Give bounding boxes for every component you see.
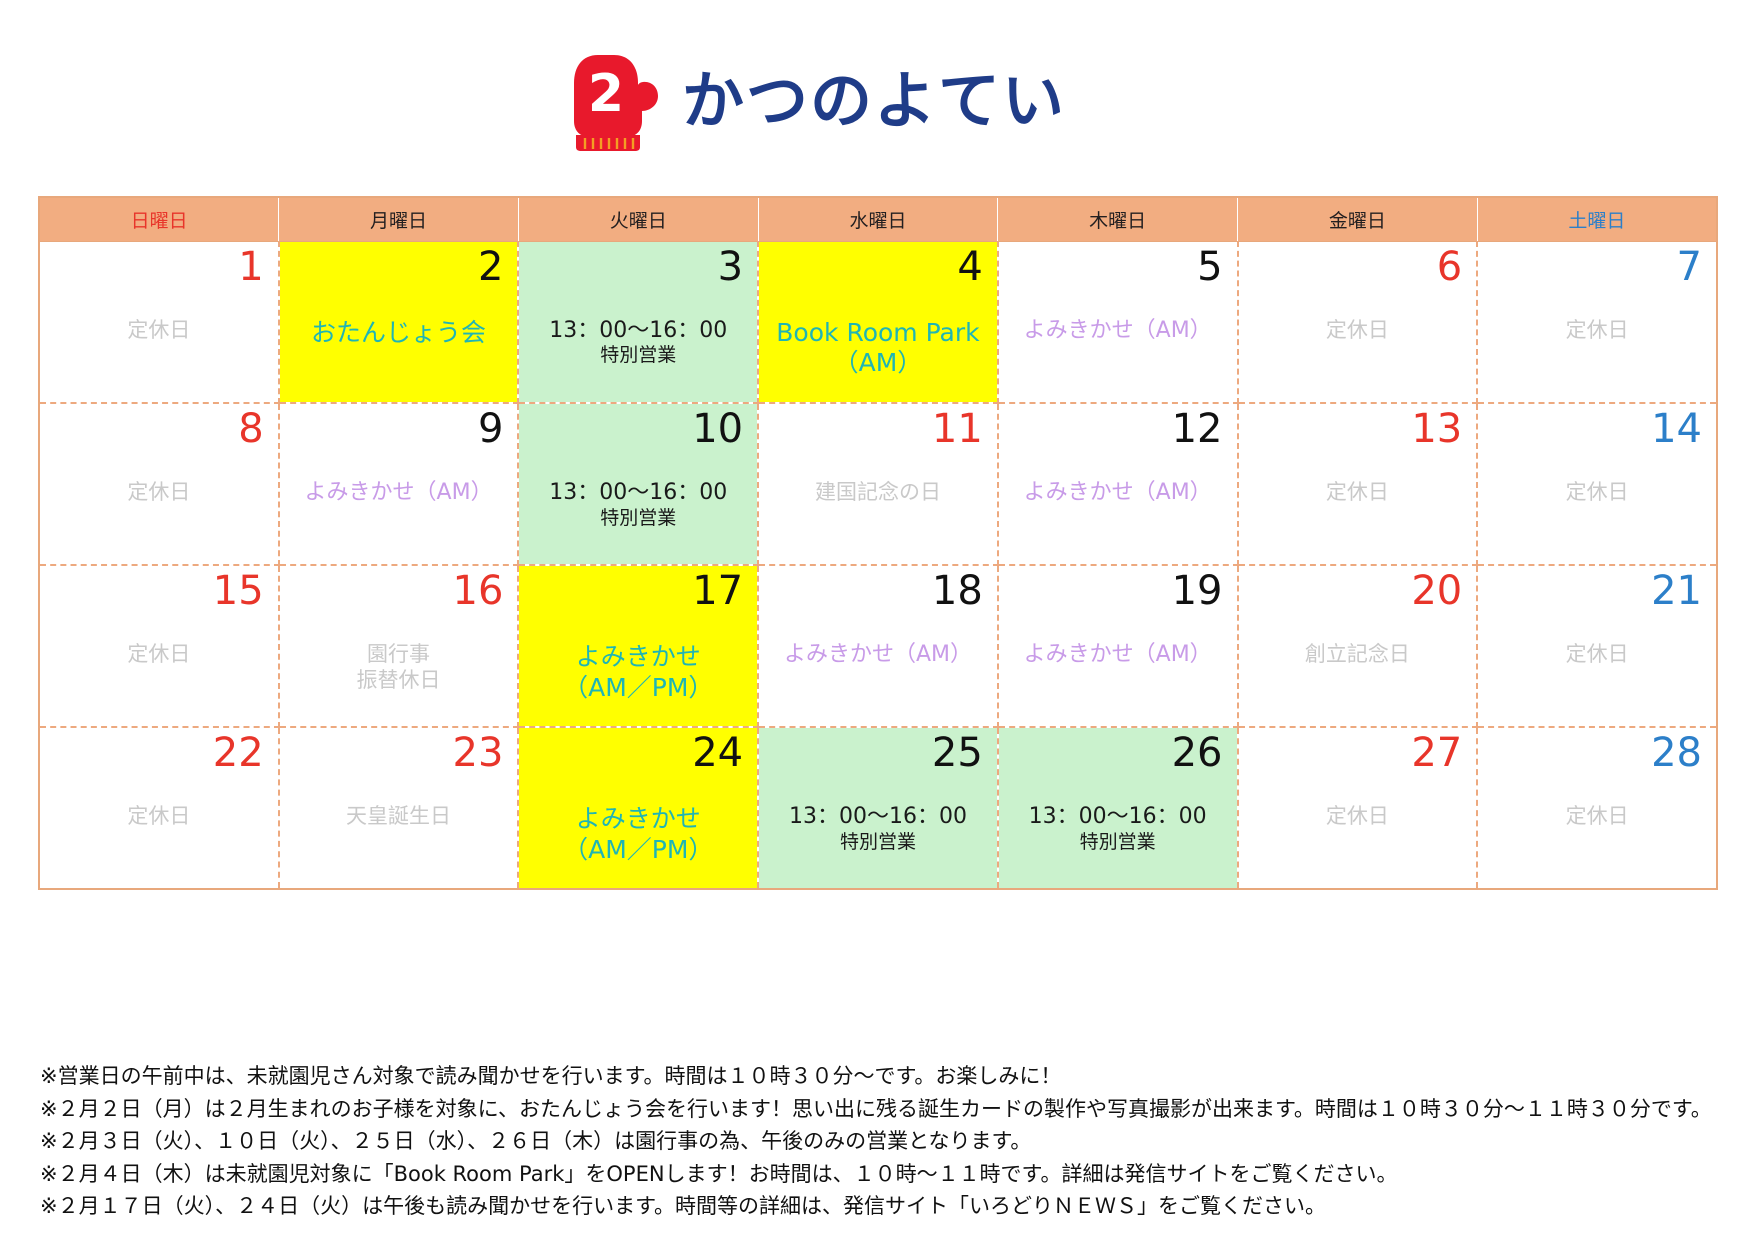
day-event-line1: 定休日 xyxy=(1484,804,1710,830)
day-number: 22 xyxy=(54,732,264,774)
calendar-day-cell[interactable]: 7定休日 xyxy=(1477,241,1717,403)
day-event-line1: よみきかせ（AM） xyxy=(1005,480,1231,507)
calendar-day-cell[interactable]: 16園行事振替休日 xyxy=(279,565,519,727)
calendar-day-cell[interactable]: 13定休日 xyxy=(1238,403,1478,565)
day-number: 15 xyxy=(54,570,264,612)
footnote-line: ※２月２日（月）は２月生まれのお子様を対象に、おたんじょう会を行います！思い出に… xyxy=(40,1093,1730,1126)
day-event-text: 定休日 xyxy=(46,480,272,506)
calendar-day-cell[interactable]: 19よみきかせ（AM） xyxy=(998,565,1238,727)
calendar-day-cell[interactable]: 15定休日 xyxy=(39,565,279,727)
calendar-day-cell[interactable]: 6定休日 xyxy=(1238,241,1478,403)
day-number: 9 xyxy=(294,408,504,450)
red-mitten-icon: 2 xyxy=(568,49,664,153)
day-event-text: 定休日 xyxy=(1484,642,1710,668)
day-event-line2: （AM） xyxy=(765,348,991,379)
day-number: 17 xyxy=(533,570,743,612)
day-number: 13 xyxy=(1253,408,1463,450)
day-event-line1: 創立記念日 xyxy=(1245,642,1471,668)
day-event-text: 定休日 xyxy=(46,642,272,668)
day-event-text: 定休日 xyxy=(1245,804,1471,830)
calendar-day-cell[interactable]: 313：00～16：00特別営業 xyxy=(518,241,758,403)
day-event-text: よみきかせ（AM／PM） xyxy=(525,642,751,703)
calendar-body: 1定休日2おたんじょう会313：00～16：00特別営業4Book Room P… xyxy=(39,241,1717,889)
calendar-day-cell[interactable]: 23天皇誕生日 xyxy=(279,727,519,889)
day-number: 27 xyxy=(1253,732,1463,774)
month-number: 2 xyxy=(588,64,624,124)
day-event-text: 定休日 xyxy=(1245,480,1471,506)
day-number: 8 xyxy=(54,408,264,450)
day-event-line1: よみきかせ xyxy=(525,804,751,835)
calendar-container: 日曜日 月曜日 火曜日 水曜日 木曜日 金曜日 土曜日 1定休日2おたんじょう会… xyxy=(38,196,1718,890)
day-event-line2: 特別営業 xyxy=(525,344,751,367)
day-number: 16 xyxy=(294,570,504,612)
day-number: 3 xyxy=(533,246,743,288)
day-event-text: 定休日 xyxy=(1484,318,1710,344)
day-number: 7 xyxy=(1492,246,1702,288)
day-event-text: 園行事振替休日 xyxy=(286,642,512,693)
day-event-line1: よみきかせ（AM） xyxy=(286,480,512,507)
day-event-text: 定休日 xyxy=(46,318,272,344)
day-event-text: よみきかせ（AM） xyxy=(1005,318,1231,345)
day-event-line1: Book Room Park xyxy=(765,318,991,349)
calendar-day-cell[interactable]: 2613：00～16：00特別営業 xyxy=(998,727,1238,889)
calendar-week-row: 1定休日2おたんじょう会313：00～16：00特別営業4Book Room P… xyxy=(39,241,1717,403)
calendar-day-cell[interactable]: 1013：00～16：00特別営業 xyxy=(518,403,758,565)
day-number: 19 xyxy=(1013,570,1223,612)
day-number: 4 xyxy=(773,246,983,288)
day-event-text: 建国記念の日 xyxy=(765,480,991,506)
calendar-day-cell[interactable]: 4Book Room Park（AM） xyxy=(758,241,998,403)
day-number: 2 xyxy=(294,246,504,288)
day-number: 18 xyxy=(773,570,983,612)
weekday-header-row: 日曜日 月曜日 火曜日 水曜日 木曜日 金曜日 土曜日 xyxy=(39,197,1717,241)
calendar-day-cell[interactable]: 9よみきかせ（AM） xyxy=(279,403,519,565)
day-event-line2: 特別営業 xyxy=(765,831,991,854)
day-event-text: おたんじょう会 xyxy=(286,318,512,349)
day-number: 24 xyxy=(533,732,743,774)
calendar-page: 2 かつのよてい 日曜日 月曜日 火曜日 水曜日 木曜日 金曜日 土曜日 1定休… xyxy=(0,0,1754,1240)
day-event-text: 定休日 xyxy=(1484,480,1710,506)
weekday-header-thursday: 木曜日 xyxy=(998,197,1238,241)
weekday-header-friday: 金曜日 xyxy=(1238,197,1478,241)
footnotes: ※営業日の午前中は、未就園児さん対象で読み聞かせを行います。時間は１０時３０分～… xyxy=(40,1060,1730,1223)
day-event-line1: よみきかせ（AM） xyxy=(1005,642,1231,669)
calendar-day-cell[interactable]: 17よみきかせ（AM／PM） xyxy=(518,565,758,727)
day-event-line1: 定休日 xyxy=(46,480,272,506)
calendar-day-cell[interactable]: 20創立記念日 xyxy=(1238,565,1478,727)
footnote-line: ※営業日の午前中は、未就園児さん対象で読み聞かせを行います。時間は１０時３０分～… xyxy=(40,1060,1730,1093)
day-number: 1 xyxy=(54,246,264,288)
calendar-day-cell[interactable]: 2おたんじょう会 xyxy=(279,241,519,403)
day-event-text: 天皇誕生日 xyxy=(286,804,512,830)
page-title: かつのよてい xyxy=(682,70,1066,132)
day-event-line1: よみきかせ（AM） xyxy=(1005,318,1231,345)
day-event-line1: 定休日 xyxy=(46,804,272,830)
day-event-text: 13：00～16：00特別営業 xyxy=(765,804,991,854)
day-event-line1: 天皇誕生日 xyxy=(286,804,512,830)
day-event-line1: 定休日 xyxy=(1245,480,1471,506)
day-number: 14 xyxy=(1492,408,1702,450)
day-number: 25 xyxy=(773,732,983,774)
day-event-text: 定休日 xyxy=(1245,318,1471,344)
weekday-header-wednesday: 水曜日 xyxy=(758,197,998,241)
calendar-day-cell[interactable]: 11建国記念の日 xyxy=(758,403,998,565)
day-event-line1: よみきかせ xyxy=(525,642,751,673)
day-number: 11 xyxy=(773,408,983,450)
footnote-line: ※２月４日（木）は未就園児対象に「Book Room Park」をOPENします… xyxy=(40,1158,1730,1191)
day-event-text: よみきかせ（AM） xyxy=(765,642,991,669)
day-event-line1: 定休日 xyxy=(1484,480,1710,506)
weekday-header-tuesday: 火曜日 xyxy=(518,197,758,241)
day-event-line1: 建国記念の日 xyxy=(765,480,991,506)
day-event-line1: 園行事 xyxy=(286,642,512,668)
weekday-header-monday: 月曜日 xyxy=(279,197,519,241)
day-number: 20 xyxy=(1253,570,1463,612)
day-event-text: よみきかせ（AM／PM） xyxy=(525,804,751,865)
day-event-line1: 定休日 xyxy=(46,318,272,344)
calendar-day-cell[interactable]: 21定休日 xyxy=(1477,565,1717,727)
day-event-line1: 13：00～16：00 xyxy=(525,480,751,507)
day-event-line1: 定休日 xyxy=(1245,318,1471,344)
day-event-line1: 定休日 xyxy=(1484,318,1710,344)
day-event-line1: 13：00～16：00 xyxy=(1005,804,1231,831)
day-event-line2: （AM／PM） xyxy=(525,673,751,704)
calendar-table: 日曜日 月曜日 火曜日 水曜日 木曜日 金曜日 土曜日 1定休日2おたんじょう会… xyxy=(38,196,1718,890)
weekday-header-sunday: 日曜日 xyxy=(39,197,279,241)
day-event-line1: 13：00～16：00 xyxy=(525,318,751,345)
footnote-line: ※２月１７日（火）、２４日（火）は午後も読み聞かせを行います。時間等の詳細は、発… xyxy=(40,1190,1730,1223)
day-number: 12 xyxy=(1013,408,1223,450)
calendar-week-row: 15定休日16園行事振替休日17よみきかせ（AM／PM）18よみきかせ（AM）1… xyxy=(39,565,1717,727)
day-event-text: 創立記念日 xyxy=(1245,642,1471,668)
day-event-text: よみきかせ（AM） xyxy=(1005,480,1231,507)
day-number: 23 xyxy=(294,732,504,774)
day-number: 10 xyxy=(533,408,743,450)
calendar-day-cell[interactable]: 14定休日 xyxy=(1477,403,1717,565)
day-number: 26 xyxy=(1013,732,1223,774)
calendar-day-cell[interactable]: 1定休日 xyxy=(39,241,279,403)
calendar-day-cell[interactable]: 22定休日 xyxy=(39,727,279,889)
day-event-line1: 13：00～16：00 xyxy=(765,804,991,831)
calendar-day-cell[interactable]: 12よみきかせ（AM） xyxy=(998,403,1238,565)
calendar-day-cell[interactable]: 2513：00～16：00特別営業 xyxy=(758,727,998,889)
calendar-day-cell[interactable]: 18よみきかせ（AM） xyxy=(758,565,998,727)
calendar-day-cell[interactable]: 5よみきかせ（AM） xyxy=(998,241,1238,403)
calendar-week-row: 22定休日23天皇誕生日24よみきかせ（AM／PM）2513：00～16：00特… xyxy=(39,727,1717,889)
day-event-line2: 特別営業 xyxy=(525,507,751,530)
day-event-line2: 振替休日 xyxy=(286,668,512,694)
day-event-text: よみきかせ（AM） xyxy=(1005,642,1231,669)
day-event-text: 13：00～16：00特別営業 xyxy=(525,318,751,368)
day-event-text: Book Room Park（AM） xyxy=(765,318,991,379)
page-header: 2 かつのよてい xyxy=(0,0,1754,140)
day-event-line1: おたんじょう会 xyxy=(286,318,512,349)
footnote-line: ※２月３日（火）、１０日（火）、２５日（水）、２６日（木）は園行事の為、午後のみ… xyxy=(40,1125,1730,1158)
day-number: 21 xyxy=(1492,570,1702,612)
calendar-day-cell[interactable]: 8定休日 xyxy=(39,403,279,565)
weekday-header-saturday: 土曜日 xyxy=(1477,197,1717,241)
calendar-week-row: 8定休日9よみきかせ（AM）1013：00～16：00特別営業11建国記念の日1… xyxy=(39,403,1717,565)
day-number: 28 xyxy=(1492,732,1702,774)
calendar-day-cell[interactable]: 24よみきかせ（AM／PM） xyxy=(518,727,758,889)
day-event-text: 定休日 xyxy=(1484,804,1710,830)
day-event-line2: （AM／PM） xyxy=(525,835,751,866)
calendar-day-cell[interactable]: 28定休日 xyxy=(1477,727,1717,889)
day-event-line1: 定休日 xyxy=(1484,642,1710,668)
day-event-text: 13：00～16：00特別営業 xyxy=(525,480,751,530)
day-event-text: よみきかせ（AM） xyxy=(286,480,512,507)
day-event-line1: 定休日 xyxy=(1245,804,1471,830)
day-event-text: 定休日 xyxy=(46,804,272,830)
day-number: 5 xyxy=(1013,246,1223,288)
day-number: 6 xyxy=(1253,246,1463,288)
day-event-line1: よみきかせ（AM） xyxy=(765,642,991,669)
calendar-day-cell[interactable]: 27定休日 xyxy=(1238,727,1478,889)
day-event-line2: 特別営業 xyxy=(1005,831,1231,854)
day-event-text: 13：00～16：00特別営業 xyxy=(1005,804,1231,854)
day-event-line1: 定休日 xyxy=(46,642,272,668)
